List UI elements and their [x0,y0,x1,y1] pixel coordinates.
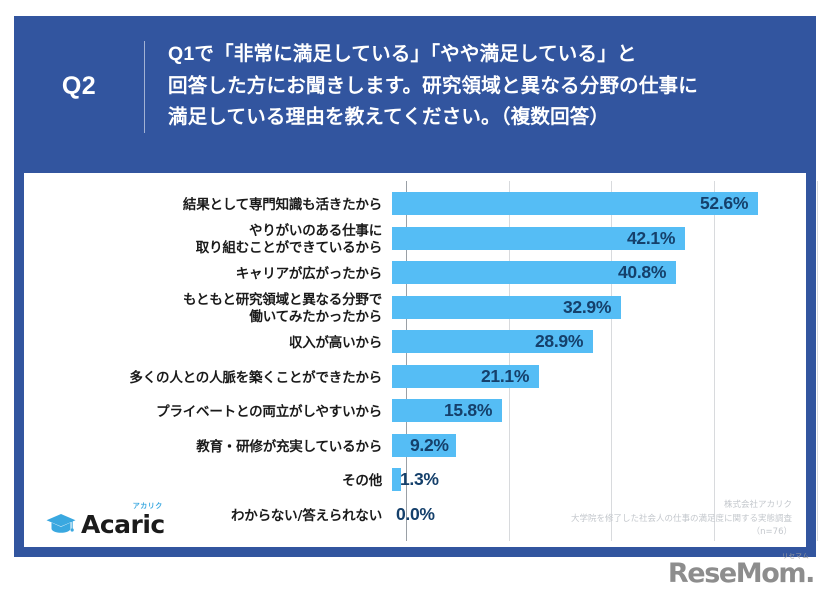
acaric-logo: アカリク Acaric [46,503,165,537]
bar-track: 40.8% [392,257,806,292]
question-line-1: Q1で「非常に満足している」「やや満足している」と [168,39,698,71]
source-survey: 大学院を修了した社会人の仕事の満足度に関する実態調査 [571,513,792,526]
bar-value-label: 28.9% [535,330,583,353]
resemom-wordmark-text: ReseMom. [668,558,814,589]
source-company: 株式会社アカリク [571,499,792,512]
category-line: 多くの人との人脈を築くことができたから [24,370,382,386]
category-line: 働いてみたかったから [24,309,382,325]
question-text: Q1で「非常に満足している」「やや満足している」と 回答した方にお聞きします。研… [145,39,712,134]
resemom-logo: リセマム ReseMom. [668,557,814,589]
acaric-wordmark: アカリク Acaric [81,512,165,537]
category-label: キャリアが広がったから [24,266,392,282]
bar-row: 多くの人との人脈を築くことができたから 21.1% [24,361,806,396]
bar-row: キャリアが広がったから 40.8% [24,257,806,292]
category-line: プライベートとの両立がしやすいから [24,404,382,420]
category-line: キャリアが広がったから [24,266,382,282]
category-line: やりがいのある仕事に [24,223,382,239]
bar-value-label: 40.8% [618,261,666,284]
bar-value-label: 21.1% [481,365,529,388]
bar-row: 結果として専門知識も活きたから 52.6% [24,188,806,223]
category-label: 結果として専門知識も活きたから [24,197,392,213]
bar-value-label: 0.0% [396,503,435,526]
bar-row: 収入が高いから 28.9% [24,326,806,361]
category-label: 多くの人との人脈を築くことができたから [24,370,392,386]
source-sample-size: （n=76） [571,526,792,539]
category-label: 収入が高いから [24,335,392,351]
bar-track: 1.3% [392,464,806,499]
bar-value-label: 1.3% [400,468,439,491]
category-line: その他 [24,473,382,489]
graduation-cap-icon [46,513,76,535]
bar-row: その他 1.3% [24,464,806,499]
category-line: もともと研究領域と異なる分野で [24,292,382,308]
bar-value-label: 9.2% [410,434,449,457]
category-label: その他 [24,473,392,489]
bar-track: 15.8% [392,395,806,430]
bar-track: 9.2% [392,430,806,465]
question-card: Q2 Q1で「非常に満足している」「やや満足している」と 回答した方にお聞きしま… [14,16,816,557]
category-label: プライベートとの両立がしやすいから [24,404,392,420]
resemom-ruby: リセマム [782,553,809,560]
bar-track: 52.6% [392,188,806,223]
category-line: 結果として専門知識も活きたから [24,197,382,213]
category-line: 教育・研修が充実しているから [24,439,382,455]
bar-track: 42.1% [392,223,806,258]
acaric-wordmark-text: Acaric [81,510,165,539]
question-line-3: 満足している理由を教えてください。（複数回答） [168,102,698,134]
bar-row: プライベートとの両立がしやすいから 15.8% [24,395,806,430]
question-line-2: 回答した方にお聞きします。研究領域と異なる分野の仕事に [168,71,698,103]
bar-row: 教育・研修が充実しているから 9.2% [24,430,806,465]
question-number: Q2 [14,72,144,101]
bar-track: 21.1% [392,361,806,396]
source-note: 株式会社アカリク 大学院を修了した社会人の仕事の満足度に関する実態調査 （n=7… [571,499,792,539]
bar-chart: 結果として専門知識も活きたから 52.6% やりがいのある仕事に 取り組むことが… [24,173,806,547]
bar-rows: 結果として専門知識も活きたから 52.6% やりがいのある仕事に 取り組むことが… [24,188,806,533]
bar-value-label: 32.9% [563,296,611,319]
bar-row: やりがいのある仕事に 取り組むことができているから 42.1% [24,223,806,258]
bar-value-label: 42.1% [627,227,675,250]
category-label: もともと研究領域と異なる分野で 働いてみたかったから [24,292,392,325]
bar-track: 32.9% [392,292,806,327]
category-line: 収入が高いから [24,335,382,351]
bar-value-label: 52.6% [700,192,748,215]
category-line: 取り組むことができているから [24,240,382,256]
bar-row: もともと研究領域と異なる分野で 働いてみたかったから 32.9% [24,292,806,327]
category-label: やりがいのある仕事に 取り組むことができているから [24,223,392,256]
bar-value-label: 15.8% [444,399,492,422]
question-header: Q2 Q1で「非常に満足している」「やや満足している」と 回答した方にお聞きしま… [14,16,816,157]
bar-track: 28.9% [392,326,806,361]
chart-panel: 結果として専門知識も活きたから 52.6% やりがいのある仕事に 取り組むことが… [24,173,806,547]
acaric-ruby: アカリク [133,503,163,510]
gridline-80 [817,181,818,541]
category-label: 教育・研修が充実しているから [24,439,392,455]
resemom-wordmark: リセマム ReseMom. [668,560,814,587]
